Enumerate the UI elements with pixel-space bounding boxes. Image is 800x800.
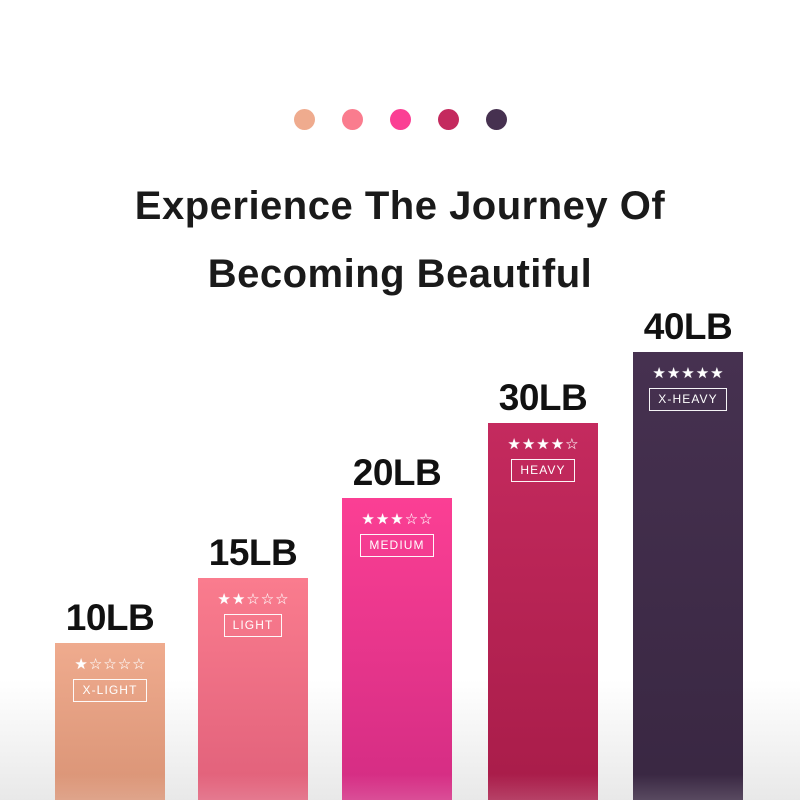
bar-group-40lb[interactable]: 40LB★★★★★X-HEAVY [633, 352, 743, 800]
star-empty-icon: ☆ [118, 657, 131, 672]
star-rating: ★☆☆☆☆ [74, 657, 145, 672]
bar-column[interactable]: ★★★★☆HEAVY [488, 423, 598, 800]
bar-content: ★★☆☆☆LIGHT [198, 592, 308, 637]
star-empty-icon: ☆ [246, 592, 259, 607]
star-rating: ★★★★☆ [507, 437, 578, 452]
star-empty-icon: ☆ [103, 657, 116, 672]
resistance-level-badge: HEAVY [511, 459, 574, 482]
star-filled-icon: ★ [710, 366, 723, 381]
star-filled-icon: ★ [232, 592, 245, 607]
bar-group-30lb[interactable]: 30LB★★★★☆HEAVY [488, 423, 598, 800]
star-filled-icon: ★ [536, 437, 549, 452]
star-filled-icon: ★ [522, 437, 535, 452]
resistance-level-badge: X-LIGHT [73, 679, 146, 702]
star-empty-icon: ☆ [405, 512, 418, 527]
star-filled-icon: ★ [507, 437, 520, 452]
star-empty-icon: ☆ [565, 437, 578, 452]
star-filled-icon: ★ [681, 366, 694, 381]
bar-weight-label: 40LB [644, 306, 732, 348]
bar-column[interactable]: ★★★★★X-HEAVY [633, 352, 743, 800]
star-filled-icon: ★ [696, 366, 709, 381]
bar-content: ★★★★☆HEAVY [488, 437, 598, 482]
bar-column[interactable]: ★★☆☆☆LIGHT [198, 578, 308, 800]
bar-group-10lb[interactable]: 10LB★☆☆☆☆X-LIGHT [55, 643, 165, 800]
star-empty-icon: ☆ [275, 592, 288, 607]
star-rating: ★★★★★ [652, 366, 723, 381]
star-rating: ★★☆☆☆ [217, 592, 288, 607]
star-filled-icon: ★ [390, 512, 403, 527]
star-filled-icon: ★ [217, 592, 230, 607]
star-empty-icon: ☆ [419, 512, 432, 527]
bar-group-20lb[interactable]: 20LB★★★☆☆MEDIUM [342, 498, 452, 800]
resistance-level-badge: LIGHT [224, 614, 283, 637]
bar-column[interactable]: ★★★☆☆MEDIUM [342, 498, 452, 800]
star-filled-icon: ★ [652, 366, 665, 381]
bar-column[interactable]: ★☆☆☆☆X-LIGHT [55, 643, 165, 800]
star-filled-icon: ★ [74, 657, 87, 672]
bar-content: ★★★★★X-HEAVY [633, 366, 743, 411]
bar-group-15lb[interactable]: 15LB★★☆☆☆LIGHT [198, 578, 308, 800]
resistance-level-badge: X-HEAVY [649, 388, 727, 411]
star-filled-icon: ★ [551, 437, 564, 452]
bar-weight-label: 15LB [209, 532, 297, 574]
infographic-stage: Experience The Journey Of Becoming Beaut… [0, 0, 800, 800]
resistance-level-bar-chart: 10LB★☆☆☆☆X-LIGHT15LB★★☆☆☆LIGHT20LB★★★☆☆M… [0, 0, 800, 800]
bar-weight-label: 30LB [499, 377, 587, 419]
bar-weight-label: 10LB [66, 597, 154, 639]
star-rating: ★★★☆☆ [361, 512, 432, 527]
resistance-level-badge: MEDIUM [360, 534, 433, 557]
star-filled-icon: ★ [376, 512, 389, 527]
star-empty-icon: ☆ [261, 592, 274, 607]
star-empty-icon: ☆ [132, 657, 145, 672]
bar-weight-label: 20LB [353, 452, 441, 494]
star-empty-icon: ☆ [89, 657, 102, 672]
bar-content: ★★★☆☆MEDIUM [342, 512, 452, 557]
star-filled-icon: ★ [361, 512, 374, 527]
star-filled-icon: ★ [667, 366, 680, 381]
bar-content: ★☆☆☆☆X-LIGHT [55, 657, 165, 702]
